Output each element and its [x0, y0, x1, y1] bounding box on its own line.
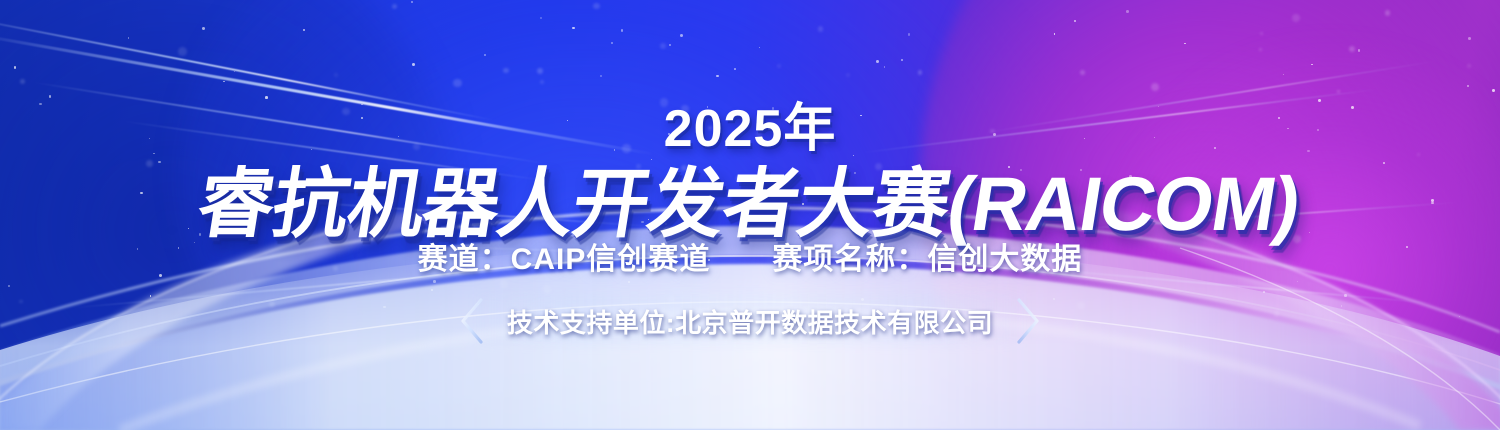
right-chevron-icon — [1015, 298, 1041, 344]
support-unit-text: 技术支持单位:北京普开数据技术有限公司 — [507, 303, 993, 340]
banner-content: 2025年 睿抗机器人开发者大赛(RAICOM) 赛道：CAIP信创赛道 赛项名… — [0, 0, 1500, 430]
track-label: 赛道：CAIP信创赛道 — [418, 234, 711, 278]
event-banner: 2025年 睿抗机器人开发者大赛(RAICOM) 赛道：CAIP信创赛道 赛项名… — [0, 0, 1500, 430]
support-row: 技术支持单位:北京普开数据技术有限公司 — [0, 298, 1500, 344]
left-chevron-icon — [459, 298, 485, 344]
event-name-label: 赛项名称：信创大数据 — [772, 234, 1082, 278]
subtitle-row: 赛道：CAIP信创赛道 赛项名称：信创大数据 — [0, 234, 1500, 278]
